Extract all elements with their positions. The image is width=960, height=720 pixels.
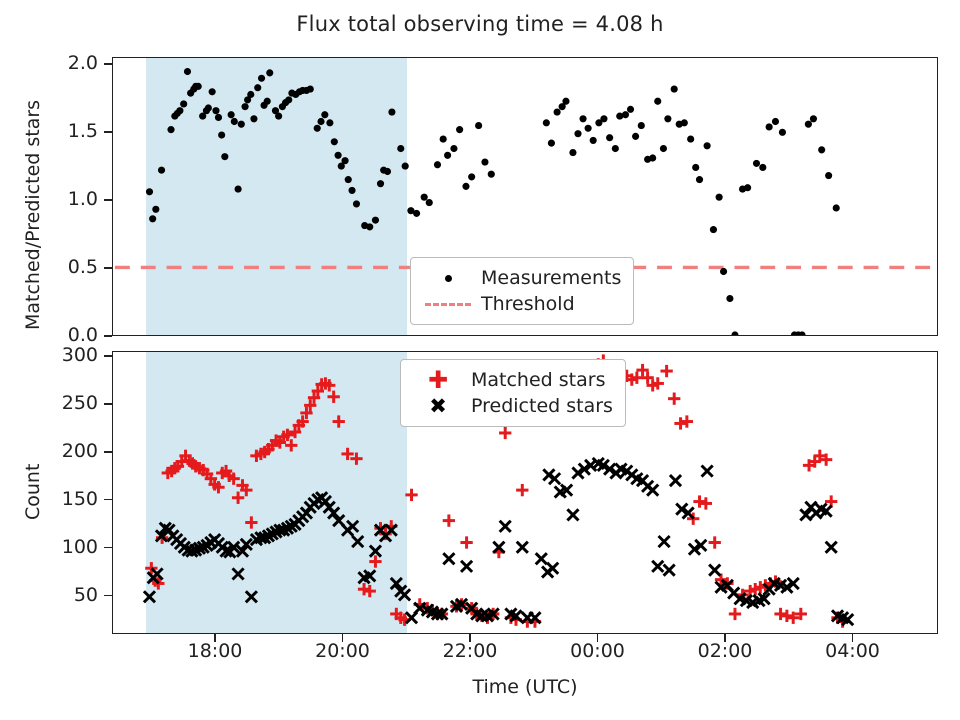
legend-label-measurements: Measurements bbox=[481, 267, 621, 289]
x-tick-mark bbox=[469, 634, 471, 642]
y-tick-mark bbox=[104, 499, 112, 501]
x-tick-label: 22:00 bbox=[425, 640, 515, 662]
x-tick-mark bbox=[597, 634, 599, 642]
y-tick-label: 1.5 bbox=[32, 120, 98, 142]
y-tick-label: 2.0 bbox=[32, 52, 98, 74]
figure-title: Flux total observing time = 4.08 h bbox=[0, 12, 960, 36]
legend-top-panel: Measurements Threshold bbox=[410, 257, 634, 325]
y-tick-label: 100 bbox=[32, 536, 98, 558]
measurements-dot-icon bbox=[421, 275, 475, 282]
y-tick-mark bbox=[104, 267, 112, 269]
y-tick-mark bbox=[104, 355, 112, 357]
legend-label-predicted-stars: Predicted stars bbox=[471, 395, 613, 417]
x-marker-icon: ✖ bbox=[411, 396, 465, 417]
legend-item-threshold: Threshold bbox=[421, 291, 621, 317]
x-tick-mark bbox=[852, 634, 854, 642]
y-tick-mark bbox=[104, 451, 112, 453]
x-tick-label: 00:00 bbox=[553, 640, 643, 662]
x-tick-label: 20:00 bbox=[298, 640, 388, 662]
y-tick-label: 50 bbox=[32, 584, 98, 606]
y-tick-label: 0.0 bbox=[32, 324, 98, 346]
y-tick-label: 150 bbox=[32, 488, 98, 510]
y-tick-label: 0.5 bbox=[32, 256, 98, 278]
legend-bottom-panel: ✚ Matched stars ✖ Predicted stars bbox=[400, 359, 626, 427]
y-tick-mark bbox=[104, 595, 112, 597]
y-tick-label: 1.0 bbox=[32, 188, 98, 210]
y-tick-mark bbox=[104, 547, 112, 549]
legend-item-predicted-stars: ✖ Predicted stars bbox=[411, 393, 613, 419]
y-tick-mark bbox=[104, 199, 112, 201]
x-tick-label: 18:00 bbox=[170, 640, 260, 662]
y-tick-mark bbox=[104, 335, 112, 337]
plus-marker-icon: ✚ bbox=[411, 368, 465, 392]
x-tick-mark bbox=[214, 634, 216, 642]
y-tick-mark bbox=[104, 131, 112, 133]
y-tick-label: 300 bbox=[32, 344, 98, 366]
threshold-dashed-line-icon bbox=[421, 303, 475, 306]
x-tick-label: 04:00 bbox=[808, 640, 898, 662]
legend-label-matched-stars: Matched stars bbox=[471, 369, 605, 391]
legend-item-matched-stars: ✚ Matched stars bbox=[411, 367, 613, 393]
y-tick-label: 250 bbox=[32, 392, 98, 414]
legend-label-threshold: Threshold bbox=[481, 293, 575, 315]
x-tick-mark bbox=[724, 634, 726, 642]
y-tick-mark bbox=[104, 403, 112, 405]
y-tick-mark bbox=[104, 63, 112, 65]
legend-item-measurements: Measurements bbox=[421, 265, 621, 291]
x-axis-label: Time (UTC) bbox=[112, 676, 938, 698]
x-tick-mark bbox=[342, 634, 344, 642]
y-tick-label: 200 bbox=[32, 440, 98, 462]
x-tick-label: 02:00 bbox=[680, 640, 770, 662]
figure-root: Flux total observing time = 4.08 h Match… bbox=[0, 0, 960, 720]
